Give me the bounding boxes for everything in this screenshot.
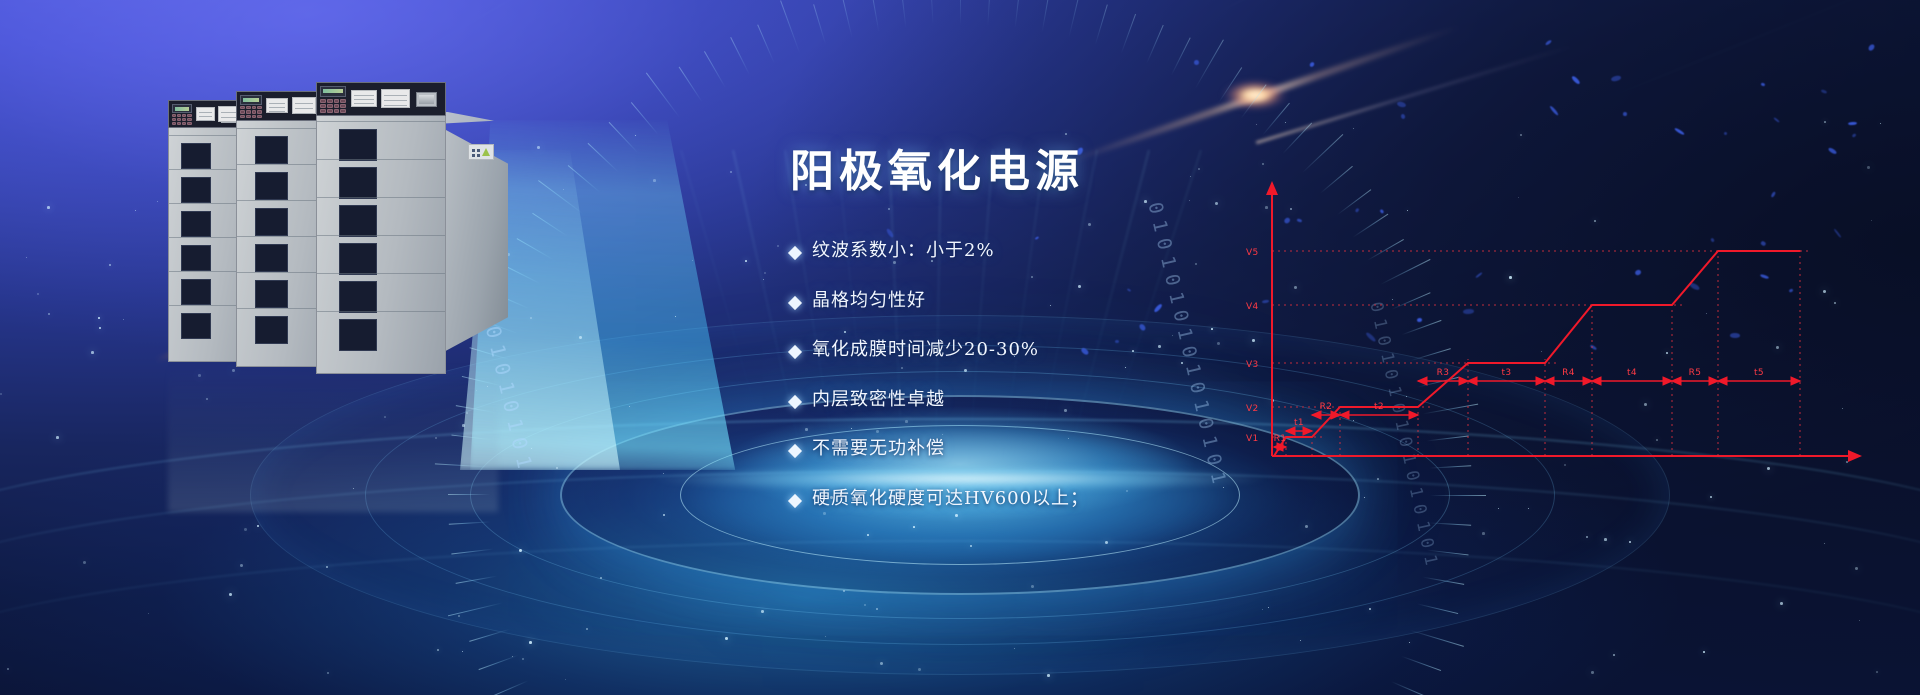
podium-tick [780,0,800,53]
feature-item-label: 内层致密性卓越 [812,389,945,412]
chart-dim-t3-label: t3 [1501,368,1511,378]
keypad-button[interactable] [334,104,340,108]
blue-shard-particle [1688,282,1700,292]
light-particle [47,206,50,209]
light-particle [512,656,513,657]
podium-tick [1015,0,1021,28]
podium-tick [451,435,493,441]
light-particle [83,561,86,564]
cabinet-reflection [168,362,498,512]
blue-shard-particle [1545,39,1553,46]
light-particle [1047,674,1050,677]
light-particle [777,245,779,247]
cabinet-seam [317,311,445,312]
light-particle [970,545,972,547]
keypad-button[interactable] [340,104,346,108]
light-particle [1824,121,1826,123]
podium-tick [502,264,540,284]
light-particle [476,390,477,391]
blue-shard-particle [1674,127,1685,135]
keypad-button[interactable] [246,106,251,109]
light-particle [1859,620,1860,621]
keypad-button[interactable] [187,118,191,121]
blue-shard-particle [1194,60,1199,65]
light-particle [764,272,766,274]
feature-item-label: 晶格均匀性好 [812,290,926,313]
cabinet-seam [317,235,445,236]
podium-tick [1095,5,1108,46]
feature-list: 纹波系数小：小于2%晶格均匀性好氧化成膜时间减少20-30%内层致密性卓越不需要… [790,240,1430,510]
podium-tick [1417,603,1458,614]
light-particle [1871,220,1872,221]
cabinet-label-plate-left [266,98,288,113]
podium-tick [1429,522,1471,525]
blue-shard-particle [1724,132,1727,135]
blue-shard-particle [1397,101,1407,108]
keypad-button[interactable] [320,99,326,103]
light-particle [1285,122,1286,123]
blue-shard-particle [1848,122,1857,125]
podium-tick [704,51,726,88]
podium-tick [1423,577,1465,585]
keypad-button[interactable] [182,122,186,125]
light-particle [556,467,558,469]
background-streak [980,0,1556,42]
light-particle [1262,609,1263,610]
cabinet-vent-panel [181,245,211,271]
podium-tick [1391,681,1430,695]
cabinet-keypad[interactable] [240,106,262,118]
keypad-button[interactable] [177,118,181,121]
podium-tick [479,655,519,670]
podium-tick [1146,25,1164,64]
feature-item: 不需要无功补偿 [790,438,1430,461]
cabinet-meter [416,92,437,107]
light-ray [680,150,776,477]
keypad-button[interactable] [187,122,191,125]
light-particle [1880,123,1881,124]
light-particle [600,577,602,579]
cabinet-vent-panel [339,129,377,161]
cabinet-vent-panel [339,167,377,199]
keypad-button[interactable] [252,110,257,113]
podium-tick [532,213,568,237]
blue-shard-particle [1852,133,1857,138]
cabinet-vent-panel [339,243,377,275]
blue-shard-particle [1730,333,1740,338]
podium-tick [435,463,491,467]
keypad-button[interactable] [252,115,257,118]
light-particle [918,668,921,671]
diamond-bullet-icon [788,295,802,309]
cabinet-vent-panel [255,316,288,344]
light-particle [1823,290,1826,293]
light-particle [1105,541,1108,544]
light-particle [462,424,465,427]
cabinet-lcd-display[interactable] [172,104,192,113]
keypad-button[interactable] [172,122,176,125]
light-particle [1644,403,1647,406]
cabinet-vent-panel [255,208,288,236]
light-particle [1564,464,1566,466]
light-particle [240,564,243,567]
blue-shard-particle [1828,147,1838,155]
light-particle [825,636,826,637]
light-particle [384,416,386,418]
light-particle [1767,467,1770,470]
podium-tick [1218,67,1242,103]
keypad-button[interactable] [240,106,245,109]
podium-tick [1068,0,1082,38]
feature-item: 内层致密性卓越 [790,389,1430,412]
light-particle [522,658,524,660]
podium-tick [588,143,619,173]
podium-tick [1241,84,1267,118]
light-particle [1482,532,1485,535]
podium-tick [757,24,775,63]
light-particle [458,615,460,617]
podium-tick [449,521,491,524]
blue-shard-particle [1710,237,1715,242]
light-particle [1520,134,1522,136]
cabinet-vent-panel [339,281,377,313]
chart-dim-t4-label: t4 [1627,368,1637,378]
light-particle [1846,461,1848,463]
light-particle [1369,608,1371,610]
light-particle [745,260,747,262]
light-particle [563,189,564,190]
podium-tick [1401,656,1441,671]
light-particle [1706,313,1707,314]
light-particle [519,549,522,552]
light-particle [565,679,566,680]
cabinet-body [316,112,446,374]
blue-shard-particle [1760,274,1769,280]
blue-shard-particle [1571,75,1580,84]
light-particle [635,135,636,136]
keypad-button[interactable] [177,114,181,117]
podium-tick [1121,14,1136,54]
cabinet-seam [317,197,445,198]
blue-shard-particle [1770,191,1775,198]
light-particle [761,610,764,613]
warning-sticker-icon [468,144,494,160]
light-particle [148,613,149,614]
light-particle [1666,352,1668,354]
blue-shard-particle [1611,75,1622,82]
light-particle [579,336,582,339]
cabinet-side-face [446,130,508,370]
light-particle [1014,648,1015,649]
light-particle [353,488,354,489]
light-particle [1353,128,1354,129]
light-particle [206,398,208,400]
podium-tick [1262,103,1290,136]
light-particle [1776,346,1779,349]
feature-item: 硬质氧化硬度可达HV600以上； [790,488,1430,511]
light-particle [586,628,588,630]
light-particle [629,406,630,407]
podium-tick [1429,465,1471,468]
cabinet-keypad[interactable] [320,99,346,113]
light-particle [327,672,329,674]
keypad-button[interactable] [257,110,262,113]
podium-tick [1195,39,1224,88]
light-particle [135,210,136,211]
power-cabinet [316,82,446,382]
banner-stage: 0101010101010101 0101010101010101 010101… [0,0,1920,695]
podium-tick [929,0,933,26]
chart-dim-r3-label: R3 [1437,368,1450,378]
light-particle [876,608,878,610]
light-particle [1518,197,1519,198]
cabinet-vent-panel [255,244,288,272]
light-particle [1586,536,1588,538]
banner-content: 阳极氧化电源 纹波系数小：小于2%晶格均匀性好氧化成膜时间减少20-30%内层致… [790,150,1430,537]
light-particle [437,649,439,651]
podium-tick [448,602,503,616]
light-particle [91,351,94,354]
light-particle [1509,276,1512,279]
keypad-button[interactable] [327,104,333,108]
light-particle [1541,351,1542,352]
light-particle [663,473,664,474]
cabinet-vent-panel [181,313,211,339]
light-particle [157,201,158,202]
light-particle [326,566,328,568]
podium-tick [871,0,879,32]
light-particle [48,313,50,315]
light-particle [466,412,468,414]
blue-shard-particle [1821,89,1827,94]
light-particle [1031,585,1034,588]
blue-shard-particle [1309,61,1315,67]
light-particle [537,146,540,149]
feature-item: 纹波系数小：小于2% [790,240,1430,263]
blue-shard-particle [1773,117,1780,123]
cabinet-vent-panel [255,136,288,164]
cabinet-label-plate-right [292,97,316,114]
diamond-bullet-icon [788,493,802,507]
light-particle [0,393,2,395]
light-particle [675,316,676,317]
light-particle [244,528,247,531]
keypad-button[interactable] [327,99,333,103]
keypad-button[interactable] [240,115,245,118]
light-particle [730,171,732,173]
light-particle [109,264,111,266]
light-particle [1842,408,1843,409]
cabinet-control-head [316,82,446,116]
light-particle [229,593,232,596]
diamond-bullet-icon [788,394,802,408]
blue-shard-particle [1549,105,1559,116]
light-particle [1867,166,1870,169]
keypad-button[interactable] [252,106,257,109]
cabinet-vent-panel [181,279,211,305]
light-particle [1703,651,1705,653]
podium-tick [456,576,498,584]
light-particle [1834,302,1836,304]
cabinet-label-plate-left [351,90,377,107]
cabinet-seam [317,121,445,122]
podium-tick [489,680,528,695]
cabinet-lcd-display[interactable] [320,86,346,97]
light-particle [257,525,259,527]
keypad-button[interactable] [334,109,340,113]
keypad-button[interactable] [334,99,340,103]
light-particle [1594,220,1596,222]
podium-tick [1171,37,1191,75]
blue-shard-particle [1623,112,1628,116]
keypad-button[interactable] [320,109,326,113]
light-particle [1300,640,1301,641]
keypad-button[interactable] [172,118,176,121]
podium-tick [813,4,826,45]
podium-tick [469,629,510,642]
light-particle [98,317,100,319]
light-particle [1268,607,1269,608]
podium-tick [987,0,990,26]
cabinet-keypad[interactable] [172,114,192,125]
power-cabinet-group [168,82,498,362]
chart-dim-r4-label: R4 [1562,368,1575,378]
podium-tick [1430,495,1486,496]
light-particle [880,662,883,665]
background-streak [1180,0,1627,33]
keypad-button[interactable] [246,110,251,113]
feature-item-label: 纹波系数小：小于2% [812,240,995,263]
cabinet-vent-panel [339,205,377,237]
chart-dim-r5-label: R5 [1689,368,1702,378]
diamond-bullet-icon [788,444,802,458]
light-particle [1710,496,1712,498]
keypad-button[interactable] [257,115,262,118]
podium-tick [538,180,584,214]
cabinet-lcd-display[interactable] [240,95,262,105]
feature-item-label: 氧化成膜时间减少20-30% [812,339,1039,362]
cabinet-label-plate-left [196,107,216,121]
light-particle [531,448,532,449]
podium-tick [1410,630,1464,647]
light-particle [692,260,693,261]
light-particle [123,319,124,320]
light-particle [1528,508,1529,509]
keypad-button[interactable] [182,114,186,117]
background-streak [1550,0,1920,122]
light-particle [725,637,728,640]
cabinet-vent-panel [255,280,288,308]
cabinet-vent-panel [339,319,377,351]
podium-tick [1427,436,1469,442]
light-particle [1656,439,1658,441]
light-particle [56,436,59,439]
keypad-button[interactable] [257,106,262,109]
podium-tick [1042,0,1050,32]
podium-tick [448,494,490,495]
light-particle [7,668,9,670]
blue-shard-particle [1634,269,1642,276]
light-particle [663,514,665,516]
podium-tick [568,165,601,193]
keypad-button[interactable] [246,115,251,118]
light-funnel [470,120,810,470]
cabinet-seam [317,159,445,160]
light-particle [653,179,656,182]
light-particle [487,386,488,387]
light-particle [1824,543,1825,544]
light-particle [1780,602,1783,605]
light-particle [864,604,866,606]
podium-tick [631,102,659,135]
keypad-button[interactable] [182,118,186,121]
keypad-button[interactable] [320,104,326,108]
light-particle [1498,508,1499,509]
podium-tick [730,37,750,75]
podium-tick [1423,404,1478,415]
page-title: 阳极氧化电源 [790,150,1430,194]
light-particle [763,279,764,280]
blue-shard-particle [1475,272,1483,279]
podium-tick [517,238,554,260]
light-particle [530,317,532,319]
feature-item-label: 硬质氧化硬度可达HV600以上； [812,488,1089,511]
light-particle [26,257,27,258]
keypad-button[interactable] [177,122,181,125]
light-particle [1613,654,1615,656]
blue-shard-particle [1833,228,1841,238]
light-particle [843,590,845,592]
cabinet-seam [317,273,445,274]
blue-shard-particle [1867,43,1875,52]
lens-flare-icon [1255,95,1259,99]
feature-item-label: 不需要无功补偿 [812,438,945,461]
light-particle [1409,642,1410,643]
keypad-button[interactable] [240,110,245,113]
cabinet-vent-panel [181,211,211,237]
feature-item: 氧化成膜时间减少20-30% [790,339,1430,362]
podium-tick [451,549,493,555]
light-particle [435,437,437,439]
keypad-button[interactable] [327,109,333,113]
keypad-button[interactable] [340,109,346,113]
light-particle [1256,124,1257,125]
light-particle [1855,567,1858,570]
blue-shard-particle [1590,344,1598,350]
light-particle [529,641,532,644]
light-particle [1876,671,1878,673]
cabinet-vent-panel [181,177,211,203]
keypad-button[interactable] [172,114,176,117]
diamond-bullet-icon [788,246,802,260]
cabinet-vent-panel [181,143,211,169]
light-particle [1717,438,1718,439]
light-particle [1629,541,1631,543]
keypad-button[interactable] [340,99,346,103]
keypad-button[interactable] [187,114,191,117]
feature-item: 晶格均匀性好 [790,290,1430,313]
light-particle [462,651,463,652]
podium-tick [646,72,680,118]
blue-shard-particle [1789,288,1794,293]
blue-shard-particle [1400,114,1405,120]
floor-sheen-3 [0,540,1920,695]
podium-tick [462,376,503,387]
light-particle [37,293,39,295]
blue-shard-particle [1761,82,1766,86]
podium-tick [960,0,961,25]
blue-shard-particle [1463,309,1474,314]
